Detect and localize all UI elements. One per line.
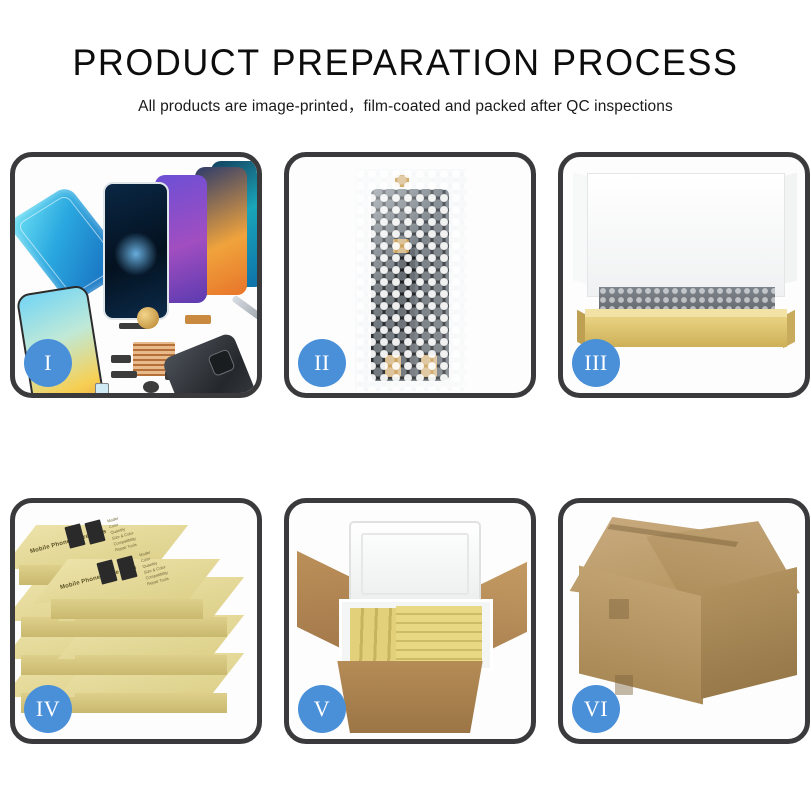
box-front-kraft	[585, 317, 787, 347]
packed-boxes-stack	[396, 606, 482, 662]
tempered-glass-panel	[103, 182, 169, 320]
part-card	[95, 383, 109, 393]
panel-badge-5: V	[298, 685, 346, 733]
page-title: PRODUCT PREPARATION PROCESS	[12, 44, 799, 83]
bubble-wrap-pouch	[355, 169, 467, 391]
phone-back-housing	[161, 332, 257, 393]
box-front-face	[75, 655, 227, 675]
foam-cooler-lid	[349, 521, 481, 607]
panel-badge-3: III	[572, 339, 620, 387]
process-panel-grid: I II III	[10, 152, 801, 744]
box-front-face	[51, 599, 203, 619]
box-front-face	[75, 693, 227, 713]
panel-bubble-wrapped-screen: II	[284, 152, 536, 398]
box-front-face	[75, 617, 227, 637]
panel-sealed-carton: VI	[558, 498, 810, 744]
part-button	[143, 381, 159, 393]
part-flex-gold	[185, 315, 211, 324]
carton-body	[331, 661, 489, 733]
panel-badge-6: VI	[572, 685, 620, 733]
panel-badge-2: II	[298, 339, 346, 387]
part-small-2	[111, 371, 137, 378]
part-speaker-coil	[137, 307, 159, 329]
plastic-sheen	[355, 169, 467, 391]
carton-tab-lower	[615, 675, 633, 695]
panel-foam-carton: V	[284, 498, 536, 744]
header: PRODUCT PREPARATION PROCESS All products…	[0, 0, 811, 116]
carton-right-face	[701, 567, 797, 699]
box-lid-white	[587, 173, 785, 297]
panel-phone-parts: I	[10, 152, 262, 398]
foam-cooler-base	[339, 599, 493, 671]
panel-badge-4: IV	[24, 685, 72, 733]
tweezers-tool	[231, 295, 257, 327]
part-small-1	[111, 355, 131, 363]
panel-stacked-boxes: Mobile Phone Spare Parts Model Color Qua…	[10, 498, 262, 744]
panel-open-kraft-box: III	[558, 152, 810, 398]
carton-tab-upper	[609, 599, 629, 619]
panel-badge-1: I	[24, 339, 72, 387]
page-subtitle: All products are image-printed，film-coat…	[0, 94, 811, 116]
